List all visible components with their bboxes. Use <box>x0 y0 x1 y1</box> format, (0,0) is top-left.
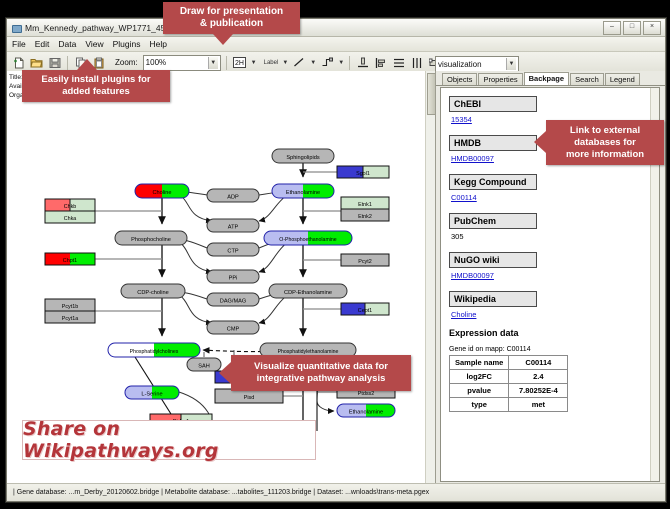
node-label: Choline <box>153 190 172 196</box>
visualization-value: visualization <box>438 60 482 69</box>
node-label: Chka <box>64 216 77 222</box>
canvas-scroll-thumb[interactable] <box>427 73 436 115</box>
node-label: ADP <box>227 195 239 201</box>
menu-item-data[interactable]: Data <box>58 39 76 49</box>
table-row: pvalue 7.80252E-4 <box>450 384 568 398</box>
db-link-wikipedia[interactable]: Choline <box>451 310 651 319</box>
gene-node-etnk2[interactable]: Etnk2 <box>341 209 389 221</box>
node-label: Sgpl1 <box>356 171 370 177</box>
minimize-button[interactable]: – <box>603 21 621 35</box>
label-tool-label[interactable]: Label <box>264 60 279 66</box>
node-label: PPi <box>229 276 238 282</box>
node-label: Pcyt1a <box>62 316 78 322</box>
annotation-link-line1: Link to external <box>570 125 640 136</box>
toolbar-separator-2 <box>226 56 227 70</box>
node-label: CTP <box>227 249 238 255</box>
exp-key-sample-name: Sample name <box>450 356 509 370</box>
node-label: O-Phosphoethanolamine <box>279 237 337 243</box>
metabolite-node-cdp-choline[interactable]: CDP-choline <box>121 284 185 298</box>
gene-node-sgpl1[interactable]: Sgpl1 <box>337 166 389 178</box>
distribute-vertical-icon[interactable] <box>391 55 406 70</box>
annotation-visualize-line1: Visualize quantitative data for <box>254 361 388 372</box>
metabolite-node-ethanolamine1[interactable]: Ethanolamine <box>272 184 334 198</box>
svg-text:2H: 2H <box>235 60 244 67</box>
gene-node-chpt1[interactable]: Chpt1 <box>45 253 95 265</box>
metabolite-node-l-serine-left[interactable]: L-Serine <box>125 386 179 399</box>
menu-bar: File Edit Data View Plugins Help <box>7 37 665 52</box>
canvas-vertical-scrollbar[interactable] <box>425 71 435 484</box>
db-header-chebi: ChEBI <box>449 96 537 112</box>
tab-search[interactable]: Search <box>570 73 604 85</box>
node-label: Phosphocholine <box>131 237 171 243</box>
metabolite-node-sah[interactable]: SAH <box>187 358 221 371</box>
annotation-plugins: Easily install plugins for added feature… <box>22 70 170 102</box>
annotation-visualize: Visualize quantitative data for integrat… <box>231 355 411 391</box>
node-label: L-Serine <box>141 392 162 398</box>
chevron-down-icon[interactable]: ▼ <box>208 57 218 69</box>
title-bar: Mm_Kennedy_pathway_WP1771_45176.gpml – □… <box>7 19 665 37</box>
menu-item-help[interactable]: Help <box>150 39 167 49</box>
maximize-button[interactable]: □ <box>623 21 641 35</box>
line-dropdown-icon[interactable]: ▼ <box>310 60 316 66</box>
annotation-plugins-line1: Easily install plugins for <box>41 74 150 85</box>
annotation-draw: Draw for presentation & publication <box>163 2 300 34</box>
exp-val-sample-name: C00114 <box>509 356 568 370</box>
line-tool-icon[interactable] <box>291 55 306 70</box>
table-row: type met <box>450 398 568 412</box>
tab-objects[interactable]: Objects <box>442 73 477 85</box>
exp-val-pvalue: 7.80252E-4 <box>509 384 568 398</box>
gene-id-on-mapp: Gene id on mapp: C00114 <box>449 346 651 353</box>
metabolite-node-sphingolipids[interactable]: Sphingolipids <box>272 149 334 163</box>
gene-node-cept1[interactable]: Cept1 <box>341 303 389 315</box>
table-row: log2FC 2.4 <box>450 370 568 384</box>
close-button[interactable]: × <box>643 21 661 35</box>
tab-properties[interactable]: Properties <box>478 73 522 85</box>
new-icon[interactable] <box>11 55 26 70</box>
expression-table: Sample name C00114 log2FC 2.4 pvalue 7.8… <box>449 355 568 412</box>
status-bar: | Gene database: ...m_Derby_20120602.bri… <box>7 483 665 501</box>
metabolite-node-phosphatidylcholines[interactable]: Phosphatidylcholines <box>108 343 200 357</box>
menu-item-file[interactable]: File <box>12 39 26 49</box>
annotation-link-line3: more information <box>566 149 644 160</box>
visualization-combobox[interactable]: visualization ▼ <box>435 56 519 72</box>
db-header-pubchem: PubChem <box>449 213 537 229</box>
annotation-plugins-arrow-icon <box>77 59 97 70</box>
zoom-combobox[interactable]: 100% ▼ <box>143 55 221 71</box>
node-label: Cept1 <box>358 308 372 314</box>
open-icon[interactable] <box>29 55 44 70</box>
db-value-pubchem: 305 <box>451 232 651 241</box>
toolbar-separator <box>67 56 68 70</box>
menu-item-plugins[interactable]: Plugins <box>113 39 141 49</box>
visualization-chevron-down-icon[interactable]: ▼ <box>506 58 516 70</box>
node-label: DAG/MAG <box>220 299 246 305</box>
annotation-visualize-line2: integrative pathway analysis <box>257 373 386 384</box>
db-header-wikipedia: Wikipedia <box>449 291 537 307</box>
db-header-hmdb: HMDB <box>449 135 537 151</box>
side-panel-tabs: Objects Properties Backpage Search Legen… <box>436 71 665 86</box>
node-label: Etnk1 <box>358 202 372 208</box>
gene-node-pisd[interactable]: Pisd <box>215 389 283 403</box>
node-label: CDP-Ethanolamine <box>284 290 332 296</box>
gene-node-chkb[interactable]: Chkb <box>45 199 95 211</box>
exp-val-log2fc: 2.4 <box>509 370 568 384</box>
annotation-draw-arrow-icon <box>213 34 233 45</box>
table-row: Sample name C00114 <box>450 356 568 370</box>
align-left-icon[interactable] <box>373 55 388 70</box>
node-label: Sphingolipids <box>286 155 319 161</box>
metabolite-node-ppi[interactable]: PPi <box>207 270 259 283</box>
gene-node-pcyt1a[interactable]: Pcyt1a <box>45 311 95 323</box>
pathway-nodes[interactable]: SphingolipidsEthanolamineO-Phosphoethano… <box>45 149 395 458</box>
node-label: CDP-choline <box>137 290 168 296</box>
zoom-value: 100% <box>146 58 166 67</box>
datanode-dropdown-icon[interactable]: ▼ <box>251 60 257 66</box>
node-label: Ptdss2 <box>358 391 374 397</box>
annotation-share-text: Share on Wikipathways.org <box>23 418 315 462</box>
db-header-kegg-compound: Kegg Compound <box>449 174 537 190</box>
distribute-horizontal-icon[interactable] <box>409 55 424 70</box>
annotation-visualize-arrow-icon <box>219 362 231 384</box>
annotation-link: Link to external databases for more info… <box>546 120 664 165</box>
zoom-label: Zoom: <box>115 58 138 67</box>
node-label: Pisd <box>244 395 255 401</box>
exp-key-type: type <box>450 398 509 412</box>
node-label: Phosphatidylcholines <box>130 349 179 355</box>
metabolite-node-ethanolamine-right[interactable]: Ethanolamine <box>337 404 395 417</box>
metabolite-node-o-phosphoethanolamine[interactable]: O-Phosphoethanolamine <box>264 231 352 245</box>
label-dropdown-icon[interactable]: ▼ <box>282 60 288 66</box>
datanode-tool-icon[interactable]: 2H <box>232 55 247 70</box>
align-bottom-icon[interactable] <box>355 55 370 70</box>
toolbar-separator-3 <box>349 56 350 70</box>
node-label: Etnk2 <box>358 214 372 220</box>
metabolite-node-ctp[interactable]: CTP <box>207 243 259 256</box>
metabolite-node-cdp-ethanolamine[interactable]: CDP-Ethanolamine <box>269 284 347 298</box>
metabolite-node-cmp[interactable]: CMP <box>207 321 259 334</box>
gene-node-etnk1[interactable]: Etnk1 <box>341 197 389 209</box>
gene-node-pcyt2[interactable]: Pcyt2 <box>341 254 389 266</box>
gene-node-chka[interactable]: Chka <box>45 211 95 223</box>
node-label: Chpt1 <box>63 258 77 264</box>
annotation-share: Share on Wikipathways.org <box>22 420 316 460</box>
metabolite-node-adp[interactable]: ADP <box>207 189 259 202</box>
annotation-plugins-line2: added features <box>62 86 130 97</box>
status-bar-text: | Gene database: ...m_Derby_20120602.bri… <box>13 489 429 496</box>
metabolite-node-dagmag[interactable]: DAG/MAG <box>207 293 259 306</box>
metabolite-node-phosphocholine[interactable]: Phosphocholine <box>115 231 187 245</box>
node-label: SAH <box>198 364 210 370</box>
db-header-nugo-wiki: NuGO wiki <box>449 252 537 268</box>
exp-key-log2fc: log2FC <box>450 370 509 384</box>
gene-node-pcyt1b[interactable]: Pcyt1b <box>45 299 95 311</box>
tab-backpage[interactable]: Backpage <box>524 72 569 85</box>
db-link-nugo-wiki[interactable]: HMDB00097 <box>451 271 651 280</box>
tab-legend[interactable]: Legend <box>605 73 640 85</box>
node-label: Pcyt1b <box>62 304 78 310</box>
save-icon[interactable] <box>47 55 62 70</box>
exp-val-type: met <box>509 398 568 412</box>
node-label: CMP <box>227 327 240 333</box>
node-label: Chkb <box>64 204 77 210</box>
db-link-kegg-compound[interactable]: C00114 <box>451 193 651 202</box>
annotation-draw-line1: Draw for presentation <box>180 6 283 17</box>
metabolite-node-atp[interactable]: ATP <box>207 219 259 232</box>
node-label: Pcyt2 <box>358 259 371 265</box>
exp-key-pvalue: pvalue <box>450 384 509 398</box>
connector-tool-icon[interactable] <box>319 55 334 70</box>
menu-item-view[interactable]: View <box>85 39 103 49</box>
window-controls: – □ × <box>603 21 661 35</box>
app-icon <box>11 23 21 33</box>
connector-dropdown-icon[interactable]: ▼ <box>338 60 344 66</box>
annotation-link-line2: databases for <box>574 137 636 148</box>
menu-item-edit[interactable]: Edit <box>35 39 50 49</box>
annotation-draw-line2: & publication <box>200 18 263 29</box>
metabolite-node-choline-top[interactable]: Choline <box>135 184 189 198</box>
annotation-link-arrow-icon <box>534 131 546 153</box>
node-label: Ethanolamine <box>349 410 383 416</box>
screenshot-root: Mm_Kennedy_pathway_WP1771_45176.gpml – □… <box>0 0 670 509</box>
expression-data-header: Expression data <box>449 328 651 338</box>
node-label: Ethanolamine <box>286 190 320 196</box>
node-label: ATP <box>228 225 239 231</box>
